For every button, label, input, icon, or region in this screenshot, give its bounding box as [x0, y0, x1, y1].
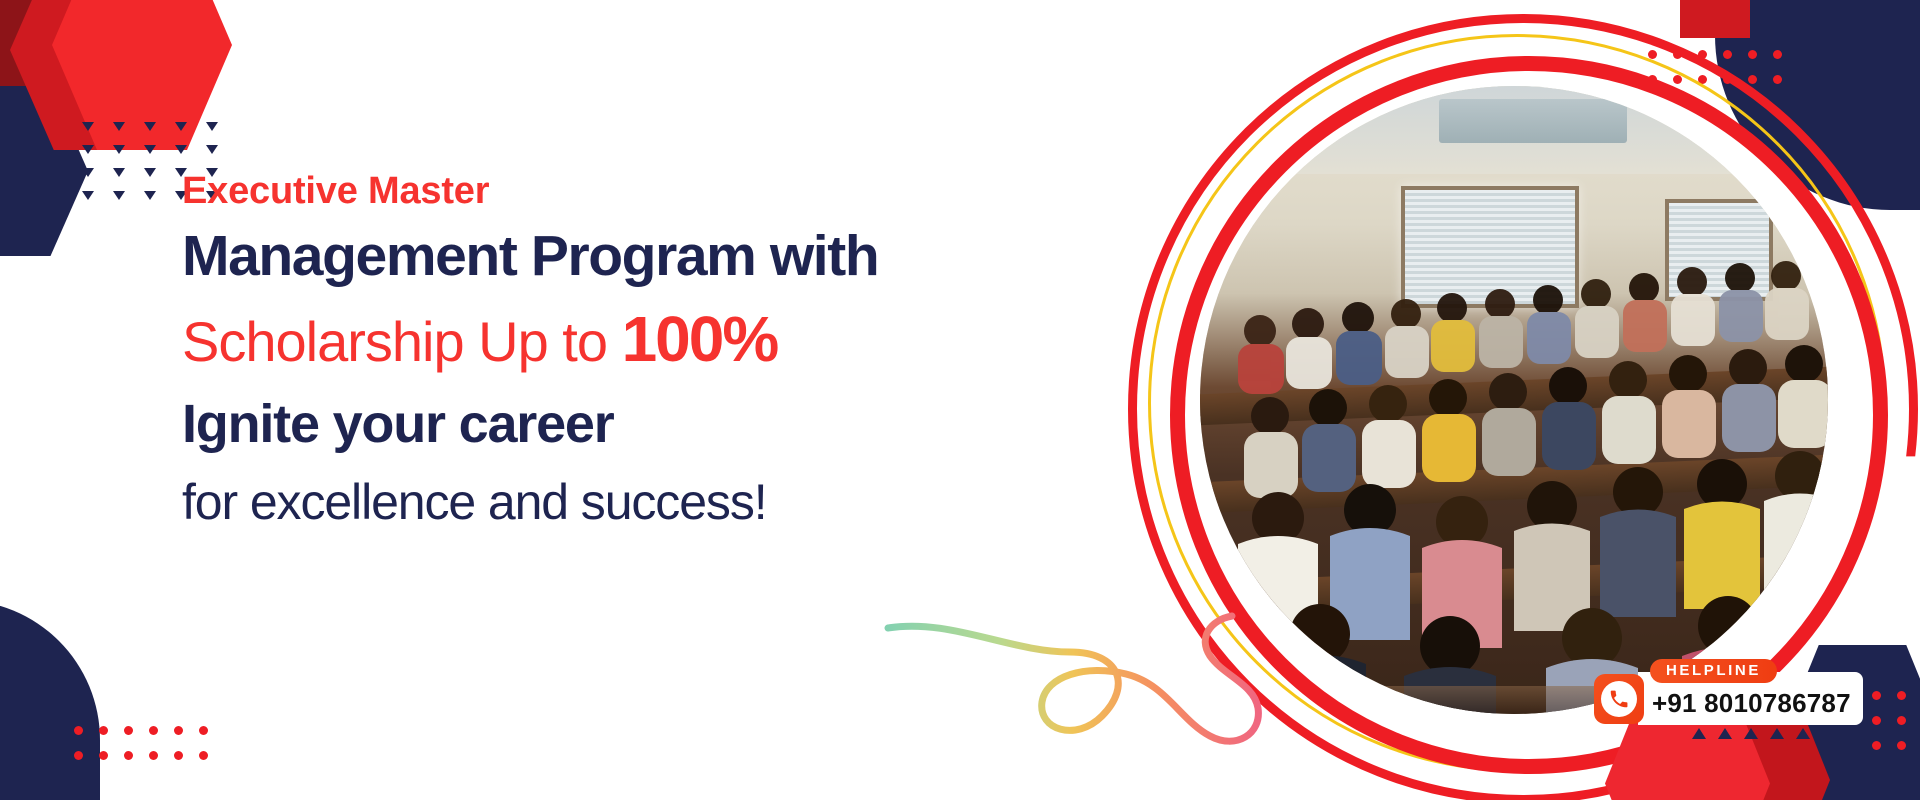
helpline-number[interactable]: +91 8010786787 [1652, 688, 1851, 719]
helpline-label: HELPLINE [1650, 659, 1777, 683]
gradient-swirl-decoration [880, 590, 1300, 790]
hexagon-navy-icon [0, 86, 88, 256]
dot-grid-bottom-left [74, 726, 208, 760]
page-title: Management Program with [182, 228, 1102, 285]
helpline-badge[interactable]: HELPLINE +91 8010786787 [1594, 672, 1863, 725]
phone-icon-tile[interactable] [1594, 674, 1644, 724]
headline-copy-block: Executive Master Management Program with… [182, 172, 1102, 527]
dot-grid-bottom-right [1872, 691, 1906, 750]
scholarship-line: Scholarship Up to 100% [182, 307, 1102, 371]
eyebrow-text: Executive Master [182, 172, 1102, 210]
phone-handset-icon [1608, 688, 1630, 710]
phone-icon [1601, 681, 1637, 717]
scholarship-prefix: Scholarship Up to [182, 310, 622, 373]
hexagon-dark-red-icon [0, 0, 88, 96]
subline-text: for excellence and success! [182, 477, 1102, 527]
navy-shape-bottom-left [0, 600, 100, 800]
promo-banner: Executive Master Management Program with… [0, 0, 1920, 800]
triangle-accent-row [1692, 728, 1810, 739]
ignite-text: Ignite your career [182, 397, 1102, 451]
helpline-info: HELPLINE +91 8010786787 [1638, 672, 1863, 725]
scholarship-percent-badge: 100% [622, 303, 778, 375]
